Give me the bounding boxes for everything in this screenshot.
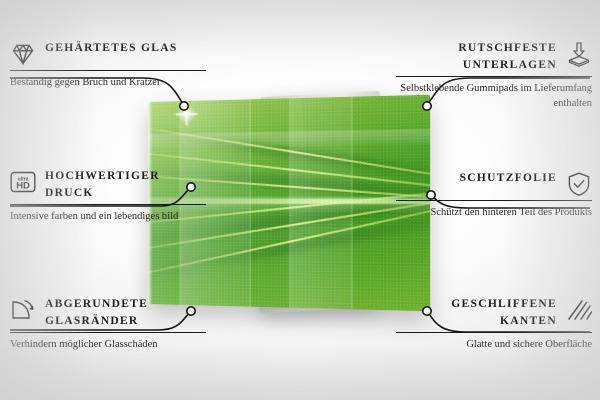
feature-nonslip-pads: RUTSCHFESTE UNTERLAGEN Selbstklebende Gu… bbox=[396, 40, 592, 111]
feature-subtitle: Verhindern möglicher Glasschäden bbox=[10, 338, 206, 352]
glass-highlight-sparkle bbox=[176, 103, 198, 126]
svg-text:HD: HD bbox=[16, 180, 30, 191]
feature-title: HOCHWERTIGER DRUCK bbox=[45, 168, 206, 201]
feature-title: GEHÄRTETES GLAS bbox=[45, 40, 178, 57]
diagonal-lines-icon bbox=[566, 297, 592, 323]
feature-title: SCHUTZFOLIE bbox=[460, 170, 557, 187]
feature-rounded-edges: ABGERUNDETE GLASRÄNDER Verhindern möglic… bbox=[10, 296, 206, 353]
shield-check-icon bbox=[566, 171, 592, 197]
feature-divider bbox=[10, 332, 206, 333]
feature-divider bbox=[396, 200, 592, 201]
feature-subtitle: Schützt den hinteren Teil des Produkts bbox=[396, 206, 592, 220]
feature-tempered-glass: GEHÄRTETES GLAS Beständig gegen Bruch un… bbox=[10, 40, 206, 90]
feature-polished-edges: GESCHLIFFENE KANTEN Glatte und sichere O… bbox=[396, 296, 592, 353]
press-pad-icon bbox=[566, 41, 592, 67]
feature-divider bbox=[396, 332, 592, 333]
diamond-icon bbox=[10, 41, 36, 67]
feature-divider bbox=[10, 70, 206, 71]
feature-protective-film: SCHUTZFOLIE Schützt den hinteren Teil de… bbox=[396, 170, 592, 220]
feature-subtitle: Selbstklebende Gummipads im Lieferumfang… bbox=[396, 82, 592, 110]
feature-title: RUTSCHFESTE UNTERLAGEN bbox=[396, 40, 557, 73]
feature-print-quality: ultra HD HOCHWERTIGER DRUCK Intensive fa… bbox=[10, 168, 206, 225]
feature-title: ABGERUNDETE GLASRÄNDER bbox=[45, 296, 206, 329]
feature-subtitle: Glatte und sichere Oberfläche bbox=[396, 338, 592, 352]
feature-divider bbox=[10, 204, 206, 205]
feature-subtitle: Beständig gegen Bruch und Kratzer bbox=[10, 76, 206, 90]
rounded-corner-icon bbox=[10, 297, 36, 323]
feature-divider bbox=[396, 76, 592, 77]
feature-subtitle: Intensive farben und ein lebendiges bild bbox=[10, 210, 206, 224]
ultra-hd-icon: ultra HD bbox=[10, 169, 36, 195]
infographic-stage: GEHÄRTETES GLAS Beständig gegen Bruch un… bbox=[0, 0, 600, 400]
feature-title: GESCHLIFFENE KANTEN bbox=[396, 296, 557, 329]
